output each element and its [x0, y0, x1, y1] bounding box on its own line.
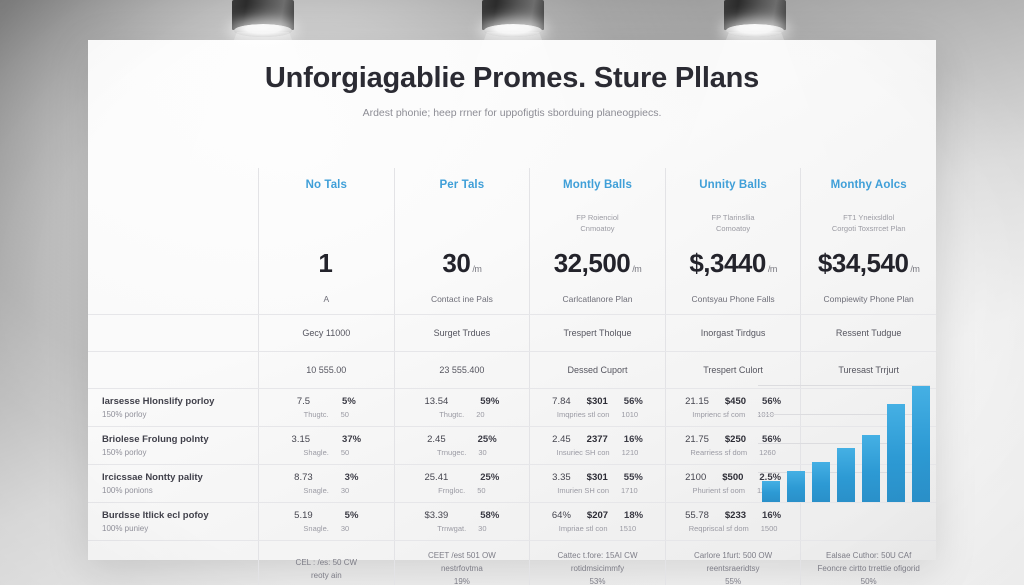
footer-line-3: 53% — [589, 576, 605, 585]
value-c: Shagle. — [303, 448, 328, 457]
footer-cell: Ealsae Cuthor: 50U CAf Feoncre cirtto tr… — [800, 541, 936, 585]
meta-text: 23 555.400 — [439, 365, 484, 375]
value-a: 21.15 — [685, 396, 709, 407]
feature-value-cell: 13.54 59% Thugtc. 20 — [394, 389, 530, 426]
feature-value-cell: 55.78 $233 16% Reqpriscal sf dom 1500 — [665, 503, 801, 540]
value-percent: 5% — [342, 396, 356, 407]
value-c: Frngloc. — [438, 486, 465, 495]
value-percent: 58% — [480, 510, 499, 521]
spotlight-lens — [726, 24, 784, 37]
value-a: 2.45 — [427, 434, 446, 445]
value-d: 30 — [341, 524, 349, 533]
value-c: Insuriec SH con — [557, 448, 610, 457]
feature-note: 100% ponions — [102, 486, 248, 495]
feature-value-cell: 3.15 37% Shagle. 50 — [258, 427, 394, 464]
value-c: Rearriess sf dom — [690, 448, 747, 457]
feature-value-primary: 8.73 3% — [294, 472, 358, 483]
value-a: 3.35 — [552, 472, 571, 483]
chart-bar — [862, 435, 880, 502]
footer-line-2: rotidmsicimmfy — [571, 563, 624, 576]
feature-value-secondary: Snagle. 30 — [303, 524, 349, 533]
value-b: $250 — [725, 434, 746, 445]
meta-text: Trespert Culort — [703, 365, 763, 375]
plan-cell[interactable]: FP Tlarinsllia Comoatoy $,3440/m Contsya… — [665, 202, 801, 314]
feature-value-secondary: Insuriec SH con 1210 — [557, 448, 639, 457]
value-b: $450 — [725, 396, 746, 407]
value-b: $301 — [587, 472, 608, 483]
table-footer-row: CEL : /es: 50 CW reoty ain CEET /est 501… — [88, 540, 936, 585]
plan-subtitle: A — [323, 294, 329, 304]
plan-cell[interactable]: 1 A — [258, 202, 394, 314]
meta-cell: 23 555.400 — [394, 352, 530, 388]
page-title: Unforgiagablie Promes. Sture Pllans — [108, 62, 916, 95]
spotlight-lens — [484, 24, 542, 37]
feature-value-cell: 2.45 25% Trnugec. 30 — [394, 427, 530, 464]
column-header-cell[interactable]: Monthy Aolcs — [800, 168, 936, 202]
value-d: 50 — [341, 410, 349, 419]
footer-line-1: Ealsae Cuthor: 50U CAf — [826, 550, 911, 563]
value-a: 7.84 — [552, 396, 571, 407]
value-a: 13.54 — [424, 396, 448, 407]
value-d: 50 — [477, 486, 485, 495]
value-a: 2.45 — [552, 434, 571, 445]
value-c: Phurient sf oom — [692, 486, 745, 495]
value-percent: 18% — [624, 510, 643, 521]
chart-bars — [762, 374, 930, 502]
feature-value-primary: 64% $207 18% — [552, 510, 643, 521]
meta-cell: Gecy 11000 — [258, 315, 394, 351]
value-c: Thugtc. — [439, 410, 464, 419]
chart-bar — [812, 462, 830, 502]
feature-value-cell: 7.84 $301 56% Imqpries stl con 1010 — [529, 389, 665, 426]
value-b: 2377 — [587, 434, 608, 445]
price-row: 1 A 30/m Contact ine Pals FP Roienciol C… — [88, 202, 936, 314]
feature-value-secondary: Shagle. 50 — [303, 448, 349, 457]
column-header-label: Monthy Aolcs — [831, 179, 907, 191]
meta-text: Trespert Tholque — [563, 328, 631, 338]
feature-value-cell: 7.5 5% Thugtc. 50 — [258, 389, 394, 426]
footer-cell: Cattec t.fore: 15AI CW rotidmsicimmfy 53… — [529, 541, 665, 585]
feature-label-cell: Burdsse Itlick ecl pofoy 100% puniey — [88, 503, 258, 540]
feature-value-secondary: Thugtc. 50 — [304, 410, 349, 419]
value-c: Snagle. — [303, 486, 328, 495]
plan-cell[interactable]: 30/m Contact ine Pals — [394, 202, 530, 314]
feature-value-cell: $3.39 58% Trnwgat. 30 — [394, 503, 530, 540]
feature-value-primary: 5.19 5% — [294, 510, 358, 521]
footer-cell: CEL : /es: 50 CW reoty ain — [258, 541, 394, 585]
feature-note: 100% puniey — [102, 524, 248, 533]
meta-text: Gecy 11000 — [302, 328, 350, 338]
feature-value-secondary: Reqpriscal sf dom 1500 — [689, 524, 778, 533]
plan-price-value: 1 — [318, 248, 332, 278]
value-d: 30 — [341, 486, 349, 495]
feature-name: Iarsesse Hlonslify porloy — [102, 396, 248, 409]
value-a: 55.78 — [685, 510, 709, 521]
column-header-cell[interactable]: Unnity Balls — [665, 168, 801, 202]
spotlight-lens — [234, 24, 292, 37]
column-header-cell[interactable]: No Tals — [258, 168, 394, 202]
footer-line-1: Carlore 1furt: 500 OW — [694, 550, 772, 563]
value-c: Imprienc sf com — [692, 410, 745, 419]
feature-value-cell: 5.19 5% Snagle. 30 — [258, 503, 394, 540]
feature-value-secondary: Frngloc. 50 — [438, 486, 485, 495]
feature-value-cell: 64% $207 18% Impriae stl con 1510 — [529, 503, 665, 540]
plan-subtitle: Contsyau Phone Falls — [691, 294, 774, 304]
footer-line-1: Cattec t.fore: 15AI CW — [557, 550, 637, 563]
meta-cell: Inorgast Tirdgus — [665, 315, 801, 351]
value-a: 3.15 — [292, 434, 311, 445]
feature-value-primary: 2.45 2377 16% — [552, 434, 643, 445]
feature-value-secondary: Imqpries stl con 1010 — [557, 410, 638, 419]
plan-cell[interactable]: FT1 Yneixsldlol Corgoti Toxsrrcet Plan $… — [800, 202, 936, 314]
plan-kicker: FT1 Yneixsldlol Corgoti Toxsrrcet Plan — [832, 212, 906, 235]
value-c: Snagle. — [303, 524, 328, 533]
feature-label-cell: Iarsesse Hlonslify porloy 150% porloy — [88, 389, 258, 426]
column-header-cell[interactable]: Montly Balls — [529, 168, 665, 202]
column-header-cell[interactable]: Per Tals — [394, 168, 530, 202]
value-a: 5.19 — [294, 510, 313, 521]
plan-kicker: FP Tlarinsllia Comoatoy — [712, 212, 755, 235]
value-c: Reqpriscal sf dom — [689, 524, 749, 533]
column-header-label: No Tals — [306, 179, 347, 191]
plan-price-period: /m — [472, 264, 481, 274]
plan-price: 30/m — [442, 248, 481, 279]
table-header-row: No Tals Per Tals Montly Balls Unnity Bal… — [88, 168, 936, 202]
feature-name: Burdsse Itlick ecl pofoy — [102, 510, 248, 523]
value-percent: 16% — [624, 434, 643, 445]
value-d: 20 — [476, 410, 484, 419]
value-d: 1010 — [621, 410, 638, 419]
chart-bar — [837, 448, 855, 502]
value-d: 1500 — [761, 524, 778, 533]
value-a: 25.41 — [424, 472, 448, 483]
value-b: $207 — [587, 510, 608, 521]
value-c: Impriae stl con — [559, 524, 608, 533]
value-a: 64% — [552, 510, 571, 521]
column-header-label: Per Tals — [440, 179, 485, 191]
footer-line-3: 55% — [725, 576, 741, 585]
value-b: $500 — [722, 472, 743, 483]
feature-value-secondary: Impriae stl con 1510 — [559, 524, 636, 533]
footer-line-2: Feoncre cirtto trrettie ofigorid — [818, 563, 920, 576]
feature-value-primary: 3.15 37% — [292, 434, 362, 445]
feature-value-secondary: Snagle. 30 — [303, 486, 349, 495]
feature-name: Ircicssae Nontty pality — [102, 472, 248, 485]
footer-line-3: 50% — [861, 576, 877, 585]
value-percent: 56% — [624, 396, 643, 407]
meta-cell: Trespert Tholque — [529, 315, 665, 351]
plan-price-value: $,3440 — [689, 248, 766, 278]
feature-value-primary: 25.41 25% — [424, 472, 499, 483]
chart-bar — [787, 471, 805, 502]
value-percent: 5% — [345, 510, 359, 521]
feature-value-primary: 7.5 5% — [297, 396, 356, 407]
meta-text: Inorgast Tirdgus — [701, 328, 766, 338]
growth-bar-chart — [758, 374, 930, 502]
footer-line-3: 19% — [454, 576, 470, 585]
value-d: 1710 — [621, 486, 638, 495]
meta-text: Ressent Tudgue — [836, 328, 902, 338]
header-spacer — [88, 168, 258, 202]
feature-value-primary: $3.39 58% — [424, 510, 499, 521]
value-b: $233 — [725, 510, 746, 521]
feature-value-primary: 7.84 $301 56% — [552, 396, 643, 407]
feature-value-primary: 2.45 25% — [427, 434, 497, 445]
plan-price-period: /m — [632, 264, 641, 274]
value-d: 1210 — [622, 448, 639, 457]
feature-value-cell: 25.41 25% Frngloc. 50 — [394, 465, 530, 502]
value-percent: 16% — [762, 510, 781, 521]
meta-text: Surget Trdues — [434, 328, 491, 338]
footer-line-1: CEET /est 501 OW — [428, 550, 496, 563]
feature-label-cell: Briolese Frolung polnty 150% porloy — [88, 427, 258, 464]
meta-cell: Dessed Cuport — [529, 352, 665, 388]
plan-subtitle: Compiewity Phone Plan — [824, 294, 914, 304]
ceiling-spotlight-center — [482, 0, 544, 36]
column-header-label: Unnity Balls — [699, 179, 767, 191]
price-row-spacer — [88, 202, 258, 314]
plan-subtitle: Carlcatlanore Plan — [563, 294, 633, 304]
footer-cell: Carlore 1furt: 500 OW reentsraeridtsy 55… — [665, 541, 801, 585]
chart-bar — [887, 404, 905, 502]
value-c: Imqpries stl con — [557, 410, 610, 419]
value-percent: 55% — [624, 472, 643, 483]
feature-value-primary: 3.35 $301 55% — [552, 472, 643, 483]
footer-spacer — [88, 541, 258, 585]
value-percent: 25% — [478, 434, 497, 445]
feature-note: 150% porloy — [102, 448, 248, 457]
plan-price-value: $34,540 — [818, 248, 908, 278]
value-percent: 25% — [480, 472, 499, 483]
feature-value-secondary: Imurien SH con 1710 — [557, 486, 637, 495]
meta-text: 10 555.00 — [306, 365, 346, 375]
footer-line-2: nestrfovtma — [441, 563, 483, 576]
ceiling-spotlight-right — [724, 0, 786, 36]
meta-row-spacer — [88, 352, 258, 388]
feature-value-cell: 8.73 3% Snagle. 30 — [258, 465, 394, 502]
value-percent: 59% — [480, 396, 499, 407]
plan-price: $34,540/m — [818, 248, 919, 279]
value-a: 2100 — [685, 472, 706, 483]
value-percent: 3% — [345, 472, 359, 483]
value-b: $301 — [587, 396, 608, 407]
meta-text: Dessed Cuport — [567, 365, 627, 375]
value-d: 30 — [478, 448, 486, 457]
plan-cell[interactable]: FP Roienciol Cnmoatoy 32,500/m Carlcatla… — [529, 202, 665, 314]
feature-value-primary: 55.78 $233 16% — [685, 510, 781, 521]
footer-line-2: reentsraeridtsy — [707, 563, 760, 576]
feature-value-secondary: Trnwgat. 30 — [437, 524, 486, 533]
feature-value-primary: 13.54 59% — [424, 396, 499, 407]
meta-cell: Surget Trdues — [394, 315, 530, 351]
feature-name: Briolese Frolung polnty — [102, 434, 248, 447]
plan-price-period: /m — [910, 264, 919, 274]
value-d: 50 — [341, 448, 349, 457]
meta-row: Gecy 11000 Surget Trdues Trespert Tholqu… — [88, 314, 936, 351]
meta-cell: Ressent Tudgue — [800, 315, 936, 351]
footer-line-2: reoty ain — [311, 570, 342, 583]
footer-line-1: CEL : /es: 50 CW — [296, 557, 358, 570]
footer-cell: CEET /est 501 OW nestrfovtma 19% — [394, 541, 530, 585]
plan-price: 32,500/m — [554, 248, 642, 279]
meta-cell: 10 555.00 — [258, 352, 394, 388]
plan-price-value: 30 — [442, 248, 470, 278]
value-c: Thugtc. — [304, 410, 329, 419]
feature-note: 150% porloy — [102, 410, 248, 419]
value-c: Trnugec. — [437, 448, 466, 457]
table-row: Burdsse Itlick ecl pofoy 100% puniey 5.1… — [88, 502, 936, 540]
chart-bar — [762, 481, 780, 502]
value-c: Trnwgat. — [437, 524, 466, 533]
plan-subtitle: Contact ine Pals — [431, 294, 493, 304]
feature-value-cell: 3.35 $301 55% Imurien SH con 1710 — [529, 465, 665, 502]
feature-value-cell: 2.45 2377 16% Insuriec SH con 1210 — [529, 427, 665, 464]
value-a: 8.73 — [294, 472, 313, 483]
plan-price: $,3440/m — [689, 248, 777, 279]
ceiling-spotlight-left — [232, 0, 294, 36]
feature-value-secondary: Thugtc. 20 — [439, 410, 484, 419]
plan-price: 1 — [318, 248, 334, 279]
feature-label-cell: Ircicssae Nontty pality 100% ponions — [88, 465, 258, 502]
plan-price-period: /m — [768, 264, 777, 274]
chart-bar — [912, 386, 930, 502]
meta-row-spacer — [88, 315, 258, 351]
value-percent: 37% — [342, 434, 361, 445]
value-a: 7.5 — [297, 396, 310, 407]
feature-value-secondary: Trnugec. 30 — [437, 448, 487, 457]
value-c: Imurien SH con — [557, 486, 609, 495]
value-d: 1510 — [620, 524, 637, 533]
chart-column-cell — [800, 503, 936, 540]
page-subtitle: Ardest phonie; heep rrner for uppofigtis… — [108, 107, 916, 119]
value-a: $3.39 — [424, 510, 448, 521]
plan-price-value: 32,500 — [554, 248, 631, 278]
card-header: Unforgiagablie Promes. Sture Pllans Arde… — [88, 40, 936, 127]
plan-kicker: FP Roienciol Cnmoatoy — [576, 212, 618, 235]
value-d: 30 — [478, 524, 486, 533]
column-header-label: Montly Balls — [563, 179, 632, 191]
value-a: 21.75 — [685, 434, 709, 445]
